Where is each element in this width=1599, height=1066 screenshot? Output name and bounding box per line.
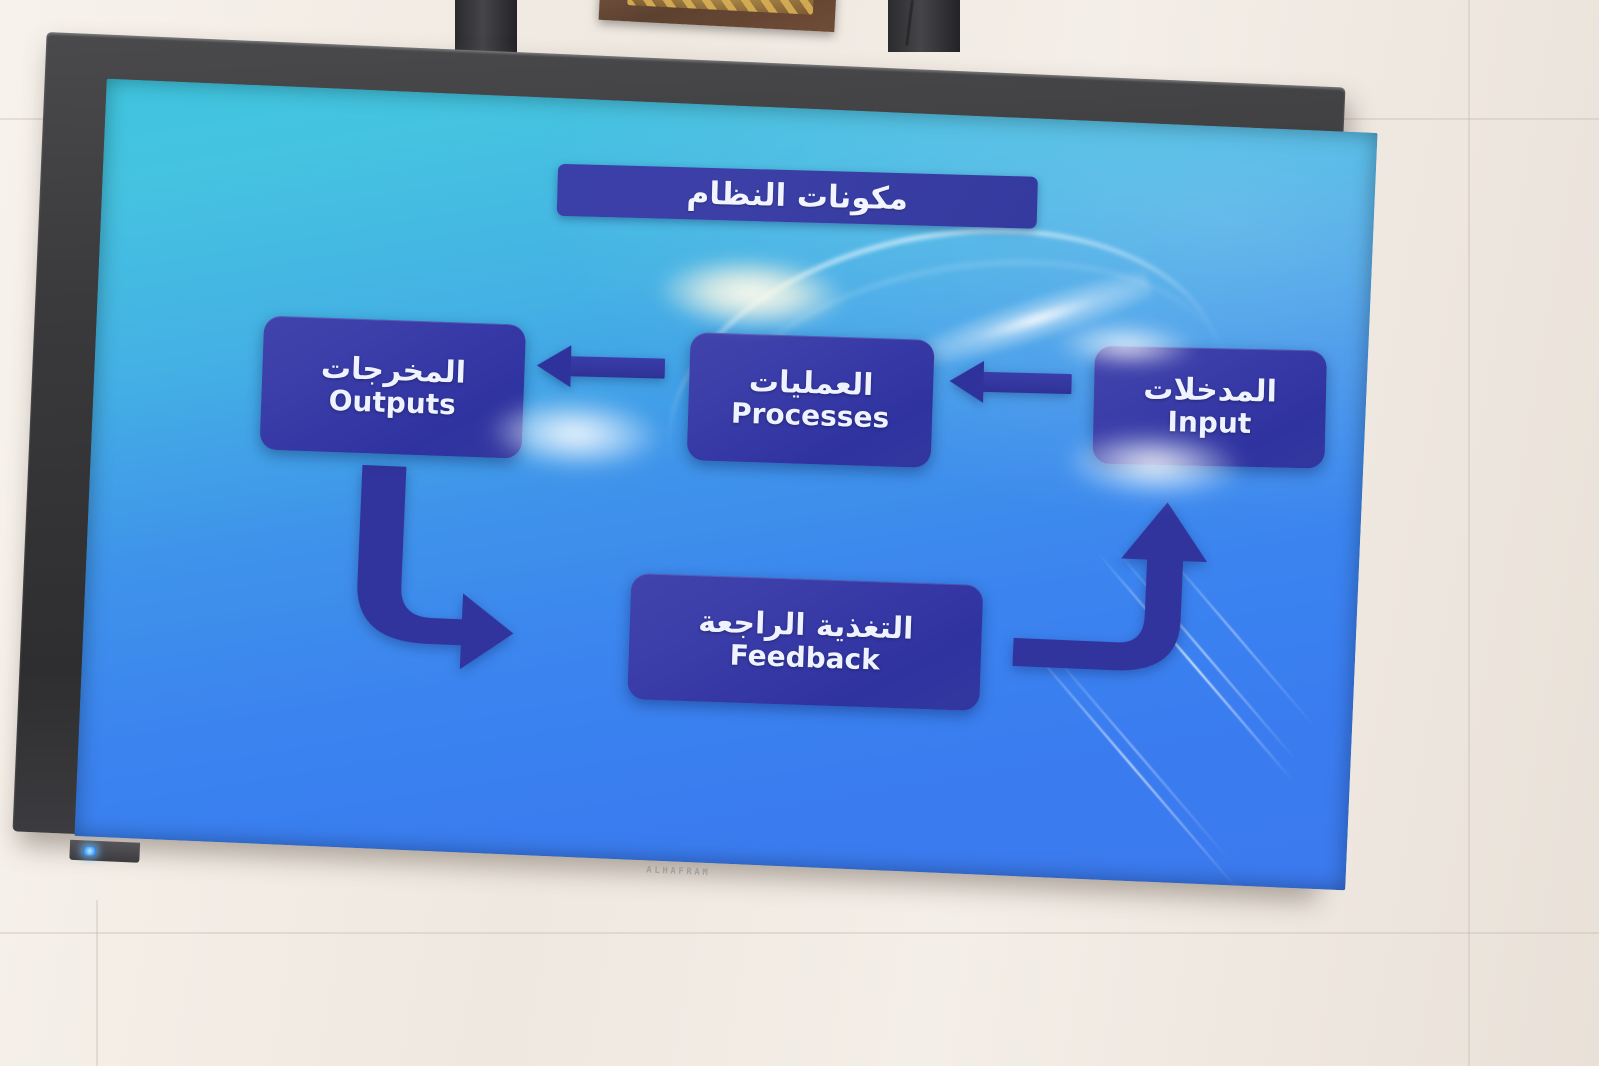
diagonal-streak-decoration — [107, 79, 1378, 133]
node-outputs-arabic: المخرجات — [320, 352, 466, 389]
node-feedback-english: Feedback — [729, 641, 880, 677]
slide-title-bar: مكونات النظام — [557, 164, 1038, 229]
arrow-processes-to-outputs — [536, 344, 665, 389]
node-processes-arabic: العمليات — [748, 366, 873, 402]
television: ALHAFRAM مكونات النظام — [0, 0, 1359, 917]
presentation-slide: مكونات النظام المدخلات I — [74, 79, 1377, 891]
node-input[interactable]: المدخلات Input — [1092, 346, 1327, 469]
arrow-input-to-processes — [949, 360, 1072, 405]
node-outputs[interactable]: المخرجات Outputs — [259, 316, 526, 459]
tv-brand-label: ALHAFRAM — [623, 861, 734, 882]
wall-seam — [0, 932, 1599, 934]
node-processes-english: Processes — [731, 399, 890, 435]
node-feedback[interactable]: التغذية الراجعة Feedback — [627, 573, 983, 711]
node-input-english: Input — [1167, 408, 1251, 441]
screen-glare-reflection — [655, 252, 848, 334]
tv-bezel: ALHAFRAM مكونات النظام — [12, 32, 1345, 887]
slide-title: مكونات النظام — [686, 175, 908, 217]
power-led-icon — [84, 846, 96, 856]
arrow-feedback-to-input — [1011, 496, 1209, 700]
arrow-outputs-to-feedback — [340, 464, 528, 672]
node-input-arabic: المدخلات — [1143, 373, 1277, 407]
tv-screen: مكونات النظام المدخلات I — [74, 79, 1377, 891]
wall-seam — [96, 900, 98, 1066]
node-processes[interactable]: العمليات Processes — [687, 332, 935, 468]
node-outputs-english: Outputs — [328, 386, 456, 421]
bezel-foot — [69, 840, 140, 863]
wall-seam — [1468, 0, 1470, 1066]
